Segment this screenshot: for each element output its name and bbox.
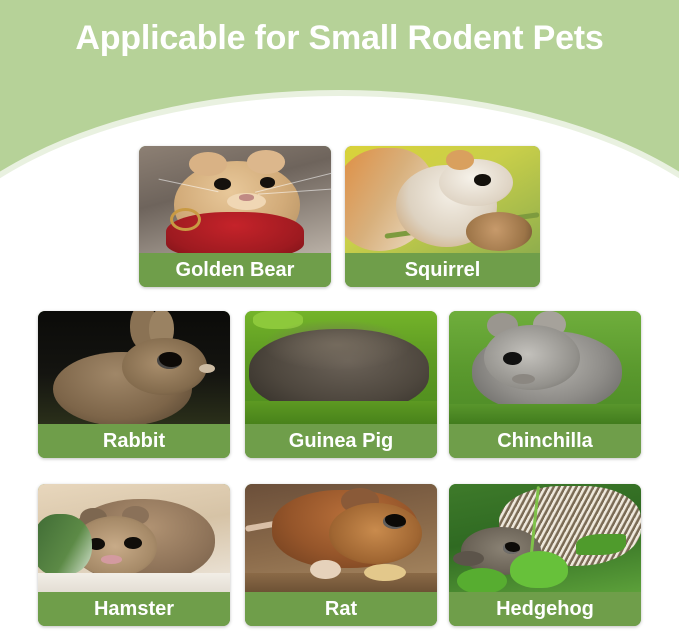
header-arc-rim (0, 90, 679, 300)
chinchilla-photo (449, 311, 641, 424)
card-label: Squirrel (345, 253, 540, 287)
card-chinchilla[interactable]: Chinchilla (449, 311, 641, 458)
pet-compatibility-poster: Applicable for Small Rodent Pets Golden … (0, 0, 679, 632)
hedgehog-photo (449, 484, 641, 592)
card-label: Golden Bear (139, 253, 331, 287)
card-label: Chinchilla (449, 424, 641, 458)
golden-bear-photo (139, 146, 331, 253)
hamster-photo (38, 484, 230, 592)
card-guinea-pig[interactable]: Guinea Pig (245, 311, 437, 458)
header-arc-white (0, 96, 679, 300)
card-label: Rat (245, 592, 437, 626)
page-title: Applicable for Small Rodent Pets (0, 19, 679, 58)
card-hedgehog[interactable]: Hedgehog (449, 484, 641, 626)
card-label: Rabbit (38, 424, 230, 458)
guinea-pig-photo (245, 311, 437, 424)
squirrel-photo (345, 146, 540, 253)
card-label: Hedgehog (449, 592, 641, 626)
card-squirrel[interactable]: Squirrel (345, 146, 540, 287)
card-label: Guinea Pig (245, 424, 437, 458)
card-label: Hamster (38, 592, 230, 626)
card-rabbit[interactable]: Rabbit (38, 311, 230, 458)
card-hamster[interactable]: Hamster (38, 484, 230, 626)
card-golden-bear[interactable]: Golden Bear (139, 146, 331, 287)
rat-photo (245, 484, 437, 592)
card-rat[interactable]: Rat (245, 484, 437, 626)
rabbit-photo (38, 311, 230, 424)
